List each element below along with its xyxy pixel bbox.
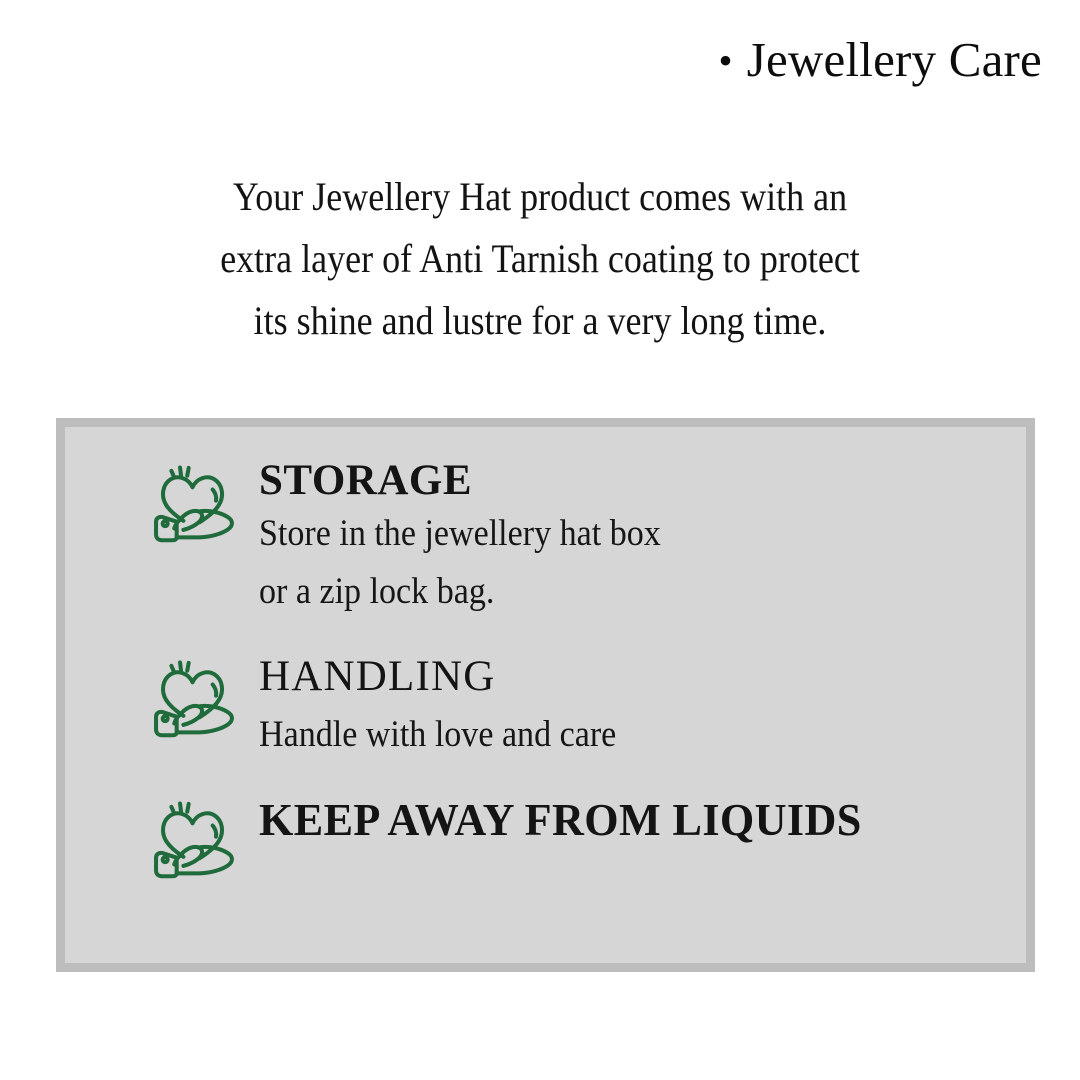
care-item-handling: HANDLING Handle with love and care [145,648,1012,764]
care-body-storage-line-1: Store in the jewellery hat box [259,505,952,563]
heart-in-hand-icon [145,455,241,551]
care-heading-liquids: KEEP AWAY FROM LIQUIDS [259,793,982,847]
heart-in-hand-icon [145,791,241,887]
care-heading-storage: STORAGE [259,457,1012,505]
care-body-handling-line-1: Handle with love and care [259,706,952,764]
title-bullet-icon: • [718,41,732,81]
care-instructions-panel: STORAGE Store in the jewellery hat box o… [56,418,1035,972]
page-title: • Jewellery Care [718,34,1042,86]
intro-paragraph: Your Jewellery Hat product comes with an… [108,166,972,352]
care-item-text: KEEP AWAY FROM LIQUIDS [259,789,1012,847]
care-item-liquids: KEEP AWAY FROM LIQUIDS [145,789,1012,887]
heart-in-hand-icon [145,650,241,746]
care-body-handling: Handle with love and care [259,706,952,764]
care-item-text: HANDLING Handle with love and care [259,648,1012,764]
intro-line-3: its shine and lustre for a very long tim… [108,290,972,352]
care-item-storage: STORAGE Store in the jewellery hat box o… [145,453,1012,621]
care-item-text: STORAGE Store in the jewellery hat box o… [259,453,1012,621]
care-heading-handling: HANDLING [259,652,1012,702]
page-title-text: Jewellery Care [747,34,1042,86]
care-instructions-list: STORAGE Store in the jewellery hat box o… [65,427,1026,963]
intro-line-2: extra layer of Anti Tarnish coating to p… [108,228,972,290]
intro-line-1: Your Jewellery Hat product comes with an [108,166,972,228]
care-body-storage: Store in the jewellery hat box or a zip … [259,505,952,621]
care-body-storage-line-2: or a zip lock bag. [259,563,952,621]
